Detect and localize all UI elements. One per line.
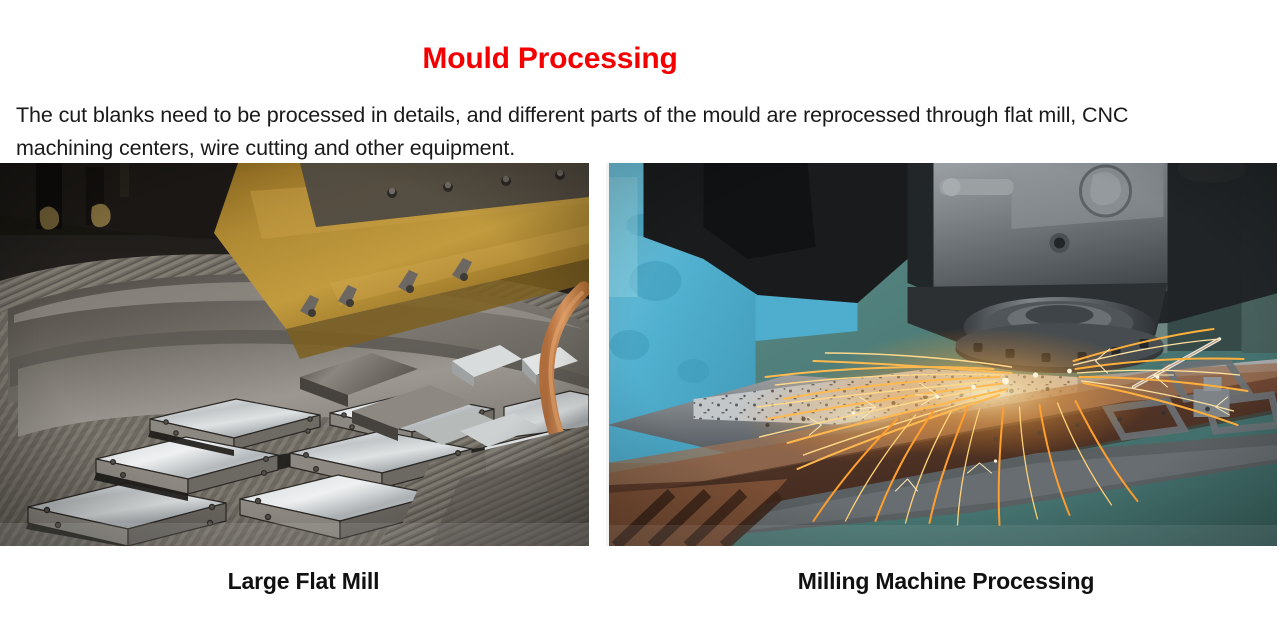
milling-machine-processing-photo[interactable]: [606, 163, 1277, 546]
intro-paragraph: The cut blanks need to be processed in d…: [16, 99, 1216, 165]
large-flat-mill-photo[interactable]: [0, 163, 589, 546]
caption-large-flat-mill: Large Flat Mill: [0, 568, 607, 595]
caption-milling-machine-processing: Milling Machine Processing: [607, 568, 1285, 595]
page-title: Mould Processing: [0, 39, 1100, 79]
photo-gallery: [0, 163, 1285, 546]
mould-processing-section: Mould Processing The cut blanks need to …: [0, 0, 1285, 619]
caption-row: Large Flat Mill Milling Machine Processi…: [0, 546, 1285, 619]
